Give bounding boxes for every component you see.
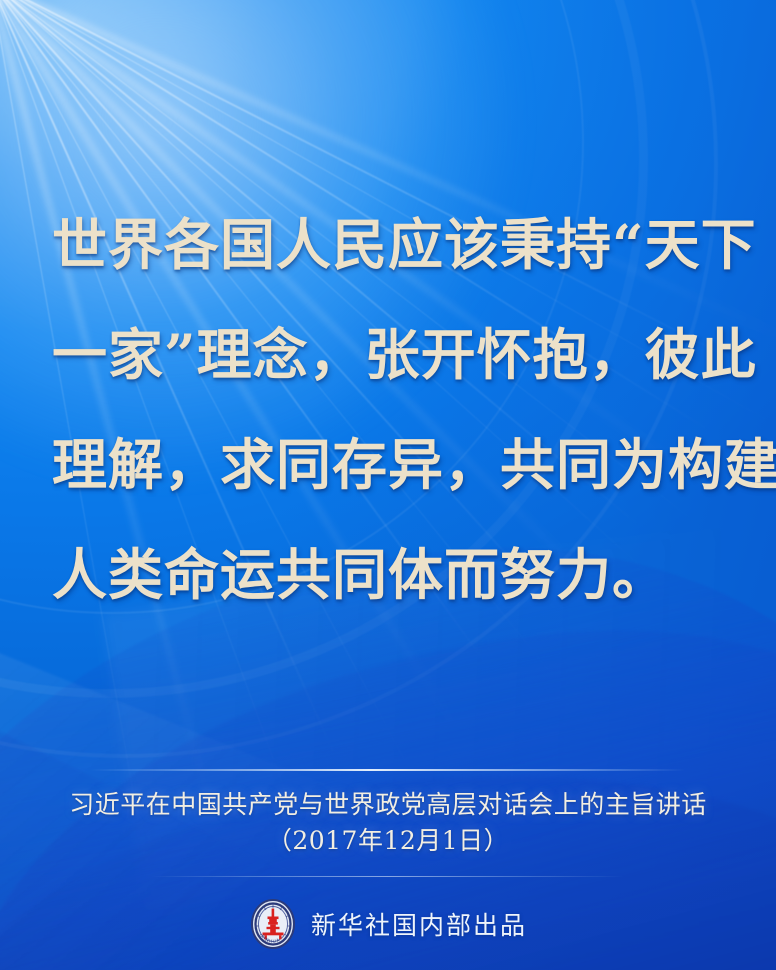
divider-above-footer xyxy=(150,876,626,877)
footer-bar: XINHUA 新华社国内部出品 xyxy=(0,898,776,950)
xinhua-logo-icon: XINHUA xyxy=(249,898,297,950)
quote-line-4: 人类命运共同体而努力。 xyxy=(52,520,724,630)
attribution-date: （2017年12月1日） xyxy=(0,823,776,859)
quote-line-1: 世界各国人民应该秉持“天下 xyxy=(52,190,724,300)
poster-card: 世界各国人民应该秉持“天下 一家”理念，张开怀抱，彼此 理解，求同存异，共同为构… xyxy=(0,0,776,970)
divider-above-attribution xyxy=(90,769,686,771)
attribution-source: 习近平在中国共产党与世界政党高层对话会上的主旨讲话 xyxy=(0,786,776,823)
quote-line-3: 理解，求同存异，共同为构建 xyxy=(52,410,724,520)
attribution-block: 习近平在中国共产党与世界政党高层对话会上的主旨讲话 （2017年12月1日） xyxy=(0,786,776,859)
quote-line-2: 一家”理念，张开怀抱，彼此 xyxy=(52,300,724,410)
footer-producer-text: 新华社国内部出品 xyxy=(311,906,527,942)
quote-block: 世界各国人民应该秉持“天下 一家”理念，张开怀抱，彼此 理解，求同存异，共同为构… xyxy=(0,190,776,630)
